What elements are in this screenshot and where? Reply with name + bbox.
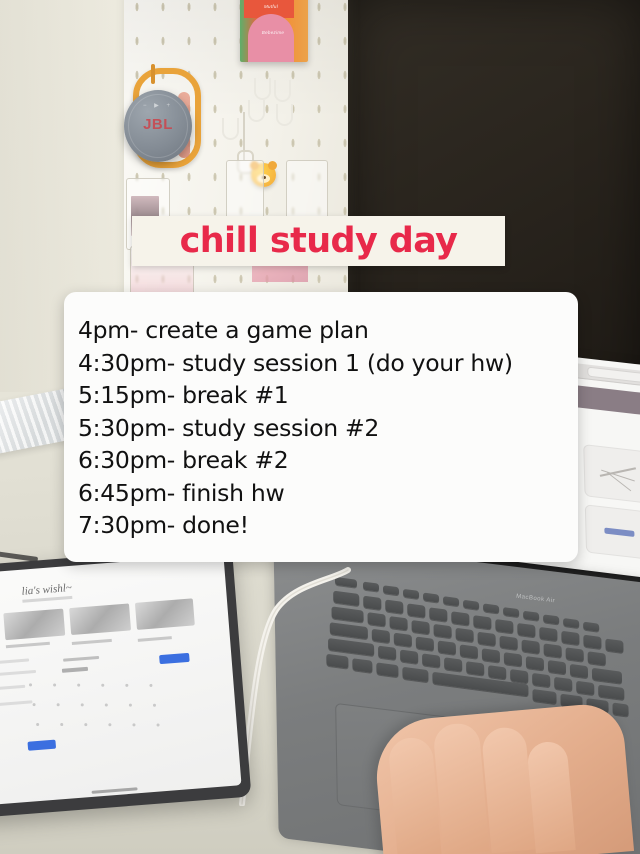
key-f[interactable]: [438, 640, 456, 654]
calendar-cell: [81, 703, 84, 706]
schedule-item: 4pm- create a game plan: [78, 314, 564, 347]
calendar-cell: [57, 703, 60, 706]
key-f10[interactable]: [543, 614, 559, 624]
calendar-cell: [153, 704, 156, 707]
key-f9[interactable]: [523, 611, 539, 621]
calendar-cell: [129, 703, 132, 706]
key-p[interactable]: [566, 647, 584, 661]
key-j[interactable]: [504, 652, 522, 666]
schedule-item: 6:30pm- break #2: [78, 444, 564, 477]
key-4[interactable]: [429, 607, 447, 621]
calendar-cell: [29, 683, 32, 686]
key-g[interactable]: [460, 644, 478, 658]
calendar-cell: [32, 703, 35, 706]
key-l[interactable]: [548, 660, 566, 674]
ipad-thumbnail-1[interactable]: [3, 609, 65, 641]
key-w[interactable]: [389, 616, 407, 630]
key-z[interactable]: [378, 646, 396, 660]
speaker-buttons: − ▶ +: [124, 102, 192, 109]
key-m[interactable]: [510, 669, 528, 683]
ipad-list-line-1: [0, 658, 29, 663]
title-banner: chill study day: [132, 216, 505, 266]
key-f11[interactable]: [563, 618, 579, 628]
key-v[interactable]: [444, 657, 462, 671]
ipad-caption-2: [72, 639, 112, 645]
ipad-heading-line: [63, 656, 99, 662]
ipad-caption-1: [6, 642, 50, 648]
key-command-right[interactable]: [532, 689, 556, 704]
key-7[interactable]: [495, 619, 513, 633]
ipad-list-line-2: [0, 670, 36, 676]
finger-middle: [432, 722, 489, 854]
key-u[interactable]: [500, 636, 518, 650]
ipad-home-indicator[interactable]: [92, 787, 138, 794]
page-title: chill study day: [180, 221, 458, 261]
screenshot-stage: Mutful Bebezime − ▶ + JBL: [0, 0, 640, 854]
hand-on-trackpad: [372, 701, 634, 854]
key-f8[interactable]: [503, 607, 519, 617]
key-n[interactable]: [488, 665, 506, 679]
product-detail-d: [604, 528, 634, 537]
key-x[interactable]: [400, 649, 418, 663]
key-f1[interactable]: [363, 582, 379, 592]
art-card-line-one: Mutful: [248, 4, 294, 9]
decorative-art-card: Mutful Bebezime: [240, 0, 308, 62]
key-c[interactable]: [422, 653, 440, 667]
schedule-item: 6:45pm- finish hw: [78, 477, 564, 510]
key-f12[interactable]: [583, 622, 599, 632]
key-5[interactable]: [451, 611, 469, 625]
art-arch-pink: [248, 14, 294, 62]
ipad-device[interactable]: lia's wishl~: [0, 545, 251, 819]
key-s[interactable]: [394, 633, 412, 647]
product-card-1[interactable]: [583, 444, 640, 504]
key-6[interactable]: [473, 615, 491, 629]
calendar-cell: [125, 684, 128, 687]
key-touch-id[interactable]: [612, 703, 628, 717]
key-k[interactable]: [526, 656, 544, 670]
key-shift-right[interactable]: [598, 685, 624, 700]
key-bracket-left[interactable]: [588, 651, 606, 665]
calendar-cell: [101, 684, 104, 687]
pooh-ear-right: [268, 161, 277, 170]
schedule-list: 4pm- create a game plan 4:30pm- study se…: [78, 314, 564, 542]
key-0[interactable]: [561, 631, 579, 645]
key-semicolon[interactable]: [570, 664, 588, 678]
calendar-cell: [77, 683, 80, 686]
key-b[interactable]: [466, 661, 484, 675]
key-d[interactable]: [416, 637, 434, 651]
finger-index: [387, 736, 441, 854]
key-f6[interactable]: [463, 600, 479, 610]
ipad-caption-3: [138, 636, 172, 641]
calendar-cell: [36, 723, 39, 726]
calendar-cell: [60, 723, 63, 726]
key-1[interactable]: [363, 596, 381, 610]
ipad-screen[interactable]: lia's wishl~: [0, 554, 242, 806]
key-period[interactable]: [554, 677, 572, 691]
key-t[interactable]: [456, 628, 474, 642]
key-r[interactable]: [434, 624, 452, 638]
schedule-item: 5:15pm- break #1: [78, 379, 564, 412]
key-comma[interactable]: [532, 673, 550, 687]
key-2[interactable]: [385, 599, 403, 613]
pegboard-hook-4: [276, 104, 293, 126]
ipad-thumbnail-3[interactable]: [135, 598, 195, 629]
pegboard-hook-5: [222, 118, 239, 140]
schedule-item: 5:30pm- study session #2: [78, 412, 564, 445]
schedule-card: 4pm- create a game plan 4:30pm- study se…: [64, 292, 578, 562]
finger-pinky: [526, 740, 575, 853]
charging-cable: [236, 566, 356, 806]
ipad-thumbnail-2[interactable]: [69, 603, 131, 635]
product-card-2[interactable]: [585, 504, 640, 560]
key-8[interactable]: [517, 623, 535, 637]
key-f3[interactable]: [403, 589, 419, 599]
calendar-cell: [149, 684, 152, 687]
jbl-speaker: − ▶ + JBL: [124, 90, 192, 162]
ipad-calendar[interactable]: [24, 664, 200, 755]
key-3[interactable]: [407, 603, 425, 617]
key-equals[interactable]: [605, 639, 623, 653]
key-o[interactable]: [544, 643, 562, 657]
pegboard-hook-1: [254, 78, 271, 100]
carabiner-gate: [151, 64, 155, 84]
key-slash[interactable]: [576, 681, 594, 695]
key-9[interactable]: [539, 627, 557, 641]
calendar-cell: [108, 723, 111, 726]
key-y[interactable]: [478, 632, 496, 646]
key-i[interactable]: [522, 640, 540, 654]
schedule-item: 4:30pm- study session 1 (do your hw): [78, 347, 564, 380]
key-e[interactable]: [411, 620, 429, 634]
finger-ring: [481, 726, 536, 853]
key-a[interactable]: [372, 629, 390, 643]
key-minus[interactable]: [583, 635, 601, 649]
ipad-subheading-line: [62, 667, 88, 673]
key-f4[interactable]: [423, 592, 439, 602]
art-card-line-two: Bebezime: [250, 30, 296, 35]
key-q[interactable]: [367, 612, 385, 626]
key-option-left[interactable]: [376, 662, 398, 677]
key-return[interactable]: [592, 668, 622, 684]
ipad-list-line-3: [0, 685, 25, 690]
pegboard-hook-2: [274, 80, 291, 102]
calendar-cell: [105, 703, 108, 706]
jbl-logo: JBL: [124, 116, 192, 133]
calendar-cell: [132, 723, 135, 726]
key-h[interactable]: [482, 648, 500, 662]
key-f2[interactable]: [383, 585, 399, 595]
schedule-item: 7:30pm- done!: [78, 509, 564, 542]
key-f7[interactable]: [483, 603, 499, 613]
key-command-left[interactable]: [402, 667, 428, 682]
calendar-cell: [84, 723, 87, 726]
calendar-cell: [156, 723, 159, 726]
calendar-cell: [53, 683, 56, 686]
ipad-primary-button[interactable]: [159, 653, 190, 664]
pegboard-hook-3: [248, 100, 265, 122]
key-f5[interactable]: [443, 596, 459, 606]
